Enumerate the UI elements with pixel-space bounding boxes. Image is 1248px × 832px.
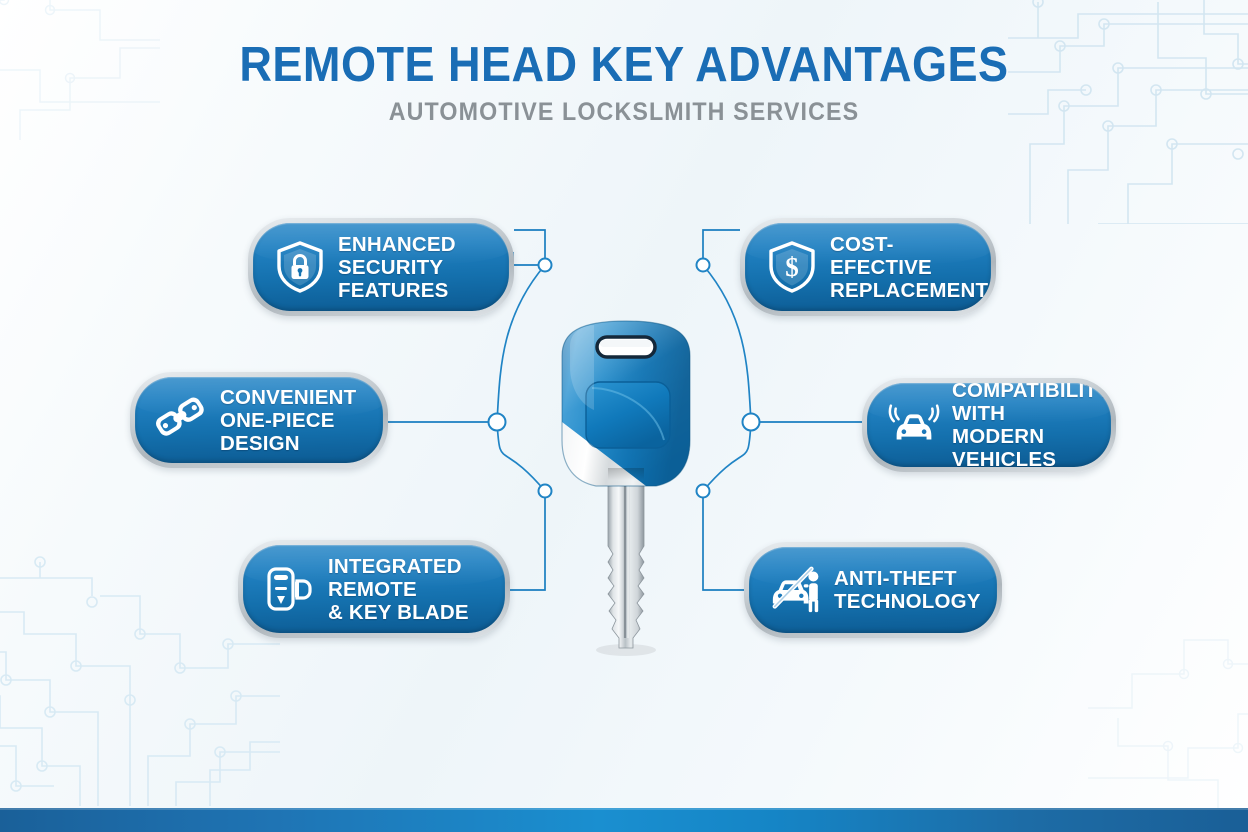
page-subtitle: AUTOMOTIVE LOCKSLMITH SERVICES [44,98,1205,126]
connector-node [743,414,760,431]
shield-dollar-icon: $ [765,240,819,294]
bottom-accent-bar [0,808,1248,832]
advantage-label: COST-EFECTIVE REPLACEMENT [830,233,991,302]
advantage-label: ENHANCED SECURITY FEATURES [338,233,509,302]
advantage-label: COMPATIBILITY WITH MODERN VEHICLES [952,383,1111,467]
advantage-card-one-piece-design[interactable]: CONVENIENT ONE-PIECE DESIGN [130,372,388,468]
connector-node [539,259,552,272]
remote-fob-icon [263,562,317,616]
advantage-label: INTEGRATED REMOTE & KEY BLADE [328,555,505,624]
advantage-label: ANTI-THEFT TECHNOLOGY [834,567,995,613]
connector-node [489,414,506,431]
shield-lock-icon [273,240,327,294]
no-theft-icon [769,563,823,617]
advantage-label: CONVENIENT ONE-PIECE DESIGN [220,386,383,455]
advantage-card-compatibility[interactable]: COMPATIBILITY WITH MODERN VEHICLES [862,378,1116,472]
svg-text:$: $ [785,252,799,282]
car-signal-icon [887,398,941,452]
chain-link-icon [155,393,209,447]
advantage-card-enhanced-security[interactable]: ENHANCED SECURITY FEATURES [248,218,514,316]
advantage-card-anti-theft[interactable]: ANTI-THEFT TECHNOLOGY [744,542,1002,638]
infographic-canvas: REMOTE HEAD KEY ADVANTAGES AUTOMOTIVE LO… [0,0,1248,832]
header: REMOTE HEAD KEY ADVANTAGES AUTOMOTIVE LO… [0,38,1248,126]
advantage-card-integrated-remote[interactable]: INTEGRATED REMOTE & KEY BLADE [238,540,510,638]
page-title: REMOTE HEAD KEY ADVANTAGES [50,38,1198,92]
remote-head-key-graphic [536,318,716,658]
connector-node [697,259,710,272]
advantage-card-cost-effective[interactable]: $ COST-EFECTIVE REPLACEMENT [740,218,996,316]
circuit-pattern-icon [1088,628,1248,808]
